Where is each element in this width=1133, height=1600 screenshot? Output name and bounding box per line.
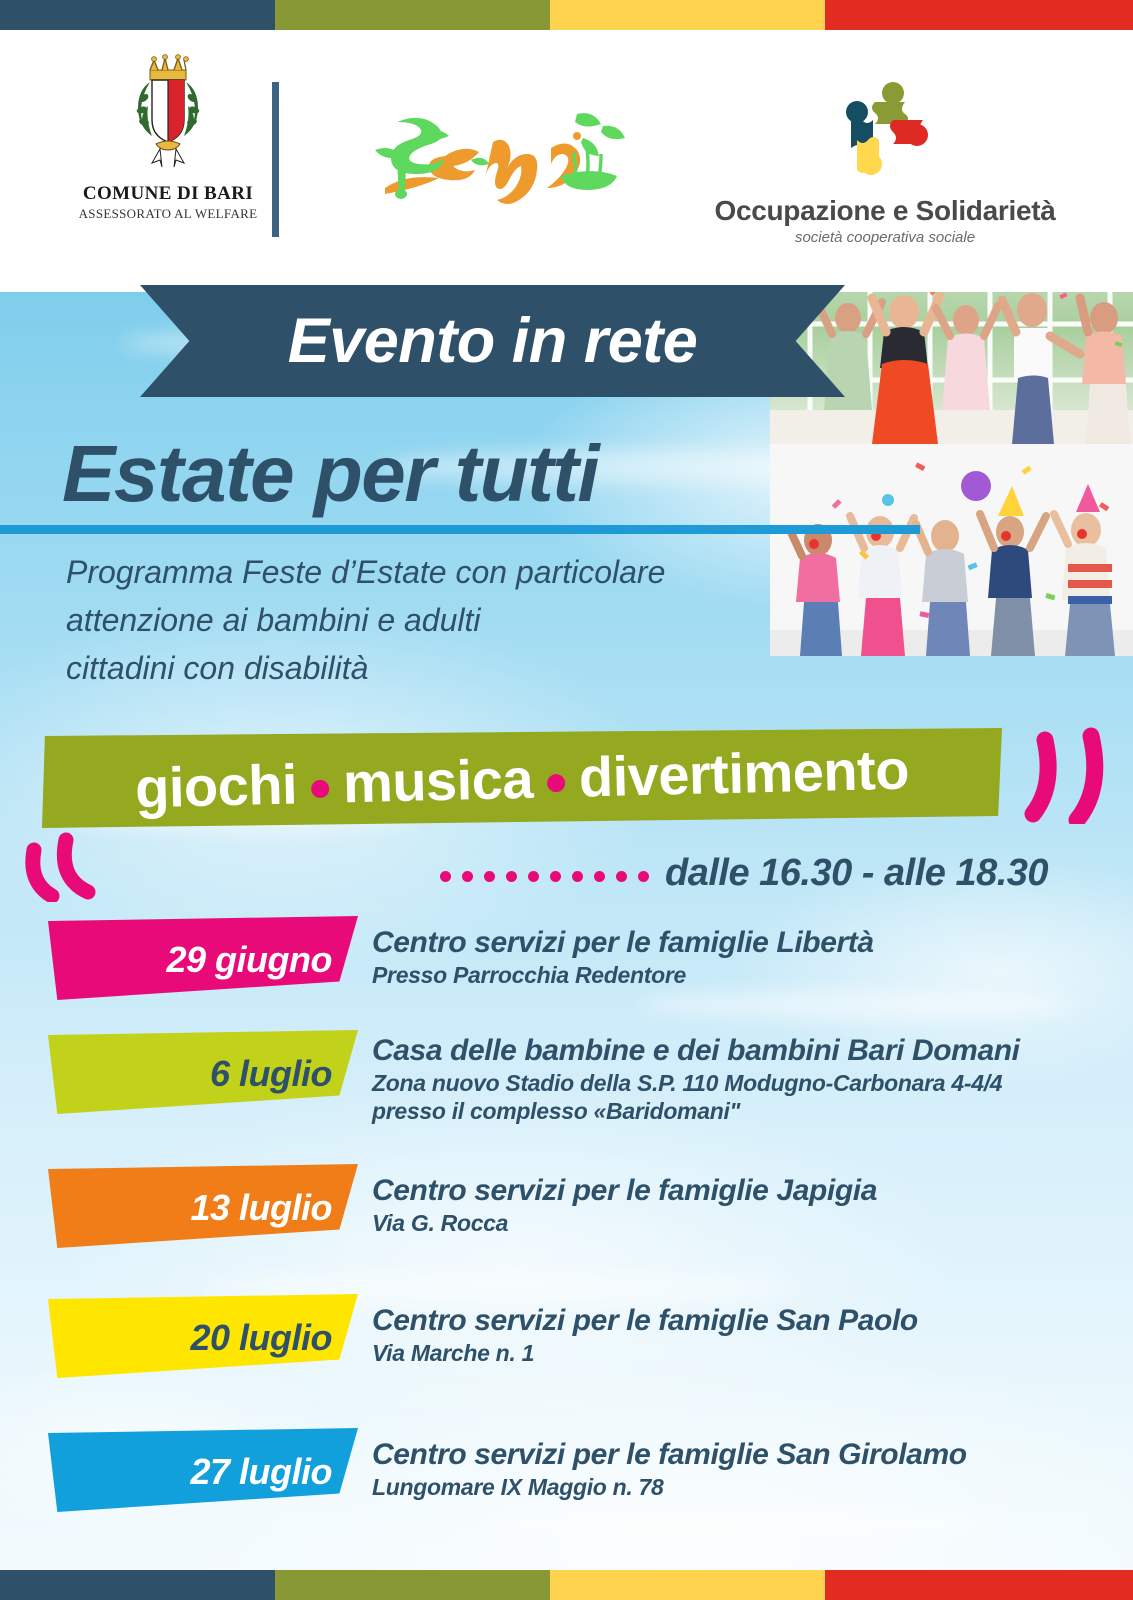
event-date-label: 13 luglio — [48, 1164, 358, 1248]
event-address: Via G. Rocca — [372, 1209, 1112, 1238]
page-title: Estate per tutti — [62, 428, 598, 520]
event-date-label: 27 luglio — [48, 1428, 358, 1512]
color-bar-segment-navy — [0, 0, 275, 30]
logo-semi — [345, 92, 635, 212]
logo-bari-subtitle: ASSESSORATO AL WELFARE — [58, 206, 278, 222]
event-info: Centro servizi per le famiglie Libertà P… — [372, 926, 1112, 989]
color-bar-segment-olive — [275, 0, 550, 30]
event-venue: Centro servizi per le famiglie Libertà — [372, 926, 1112, 961]
features-band-text: giochi musica divertimento — [41, 716, 1003, 839]
subtitle-line-3: cittadini con disabilità — [66, 644, 806, 692]
feature-item-musica: musica — [342, 745, 534, 815]
features-band: giochi musica divertimento — [42, 728, 1002, 828]
logo-occ-subtitle: società cooperativa sociale — [700, 229, 1070, 246]
logo-occupazione-e-solidarieta: Occupazione e Solidarietà società cooper… — [700, 80, 1070, 246]
event-date-tag: 6 luglio — [48, 1030, 358, 1114]
feature-separator-dot — [547, 774, 565, 792]
event-address: Lungomare IX Maggio n. 78 — [372, 1473, 1112, 1502]
puzzle-people-icon — [831, 80, 939, 184]
event-info: Casa delle bambine e dei bambini Bari Do… — [372, 1034, 1112, 1126]
poster-root: COMUNE DI BARI ASSESSORATO AL WELFARE — [0, 0, 1133, 1600]
event-venue: Centro servizi per le famiglie San Girol… — [372, 1438, 1112, 1473]
event-date-tag: 27 luglio — [48, 1428, 358, 1512]
children-party-hats-photo — [770, 444, 1133, 656]
color-bar-segment-navy — [0, 1570, 275, 1600]
event-date-tag: 13 luglio — [48, 1164, 358, 1248]
color-bar-segment-yellow — [550, 0, 825, 30]
event-info: Centro servizi per le famiglie San Girol… — [372, 1438, 1112, 1501]
motion-arcs-bottom-left — [16, 812, 116, 902]
event-address: Zona nuovo Stadio della S.P. 110 Modugno… — [372, 1069, 1112, 1098]
event-date-label: 20 luglio — [48, 1294, 358, 1378]
banner-eyebrow-text: Evento in rete — [140, 285, 845, 397]
event-date-label: 6 luglio — [48, 1030, 358, 1114]
motion-arcs-top-right — [1005, 702, 1115, 824]
pink-arc-icon — [16, 812, 116, 902]
feature-item-divertimento: divertimento — [578, 736, 910, 809]
schedule-time-label: dalle 16.30 - alle 18.30 — [665, 852, 1048, 895]
event-date-tag: 20 luglio — [48, 1294, 358, 1378]
event-date-label: 29 giugno — [48, 916, 358, 1000]
logo-comune-di-bari: COMUNE DI BARI ASSESSORATO AL WELFARE — [58, 48, 278, 222]
header-band: COMUNE DI BARI ASSESSORATO AL WELFARE — [0, 30, 1133, 292]
event-venue: Casa delle bambine e dei bambini Bari Do… — [372, 1034, 1112, 1069]
event-address: presso il complesso «Baridomani" — [372, 1097, 1112, 1126]
event-info: Centro servizi per le famiglie Japigia V… — [372, 1174, 1112, 1237]
logo-bari-name: COMUNE DI BARI — [58, 183, 278, 205]
color-bar-segment-red — [825, 1570, 1133, 1600]
semi-wordmark-icon — [345, 92, 635, 212]
subtitle-line-1: Programma Feste d’Estate con particolare — [66, 548, 806, 596]
subtitle-line-2: attenzione ai bambini e adulti — [66, 596, 806, 644]
time-dots-decoration — [440, 865, 649, 882]
event-info: Centro servizi per le famiglie San Paolo… — [372, 1304, 1112, 1367]
top-color-bar — [0, 0, 1133, 30]
event-date-tag: 29 giugno — [48, 916, 358, 1000]
logo-occ-name: Occupazione e Solidarietà — [700, 195, 1070, 227]
event-address: Presso Parrocchia Redentore — [372, 961, 1112, 990]
pink-arc-icon — [1005, 702, 1115, 824]
color-bar-segment-yellow — [550, 1570, 825, 1600]
event-venue: Centro servizi per le famiglie San Paolo — [372, 1304, 1112, 1339]
subtitle-block: Programma Feste d’Estate con particolare… — [66, 548, 806, 692]
color-bar-segment-red — [825, 0, 1133, 30]
schedule-time-row: dalle 16.30 - alle 18.30 — [440, 848, 1100, 898]
title-underline-rule — [0, 525, 920, 534]
bottom-color-bar — [0, 1570, 1133, 1600]
color-bar-segment-olive — [275, 1570, 550, 1600]
event-address: Via Marche n. 1 — [372, 1339, 1112, 1368]
feature-item-giochi: giochi — [134, 751, 297, 820]
bari-coat-of-arms-icon — [120, 48, 216, 174]
feature-separator-dot — [311, 780, 329, 798]
header-divider — [272, 82, 279, 237]
event-venue: Centro servizi per le famiglie Japigia — [372, 1174, 1112, 1209]
evento-in-rete-banner: Evento in rete — [140, 285, 845, 397]
